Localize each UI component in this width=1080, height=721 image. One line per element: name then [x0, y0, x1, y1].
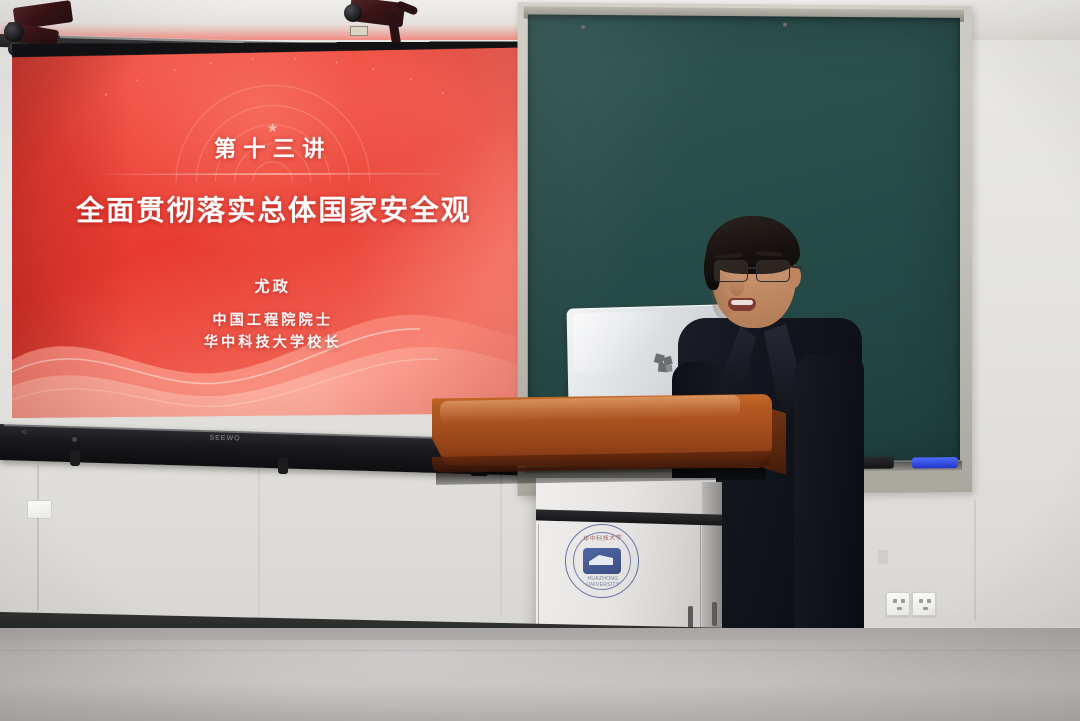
lectern-latch[interactable] [712, 602, 717, 626]
led-video-wall[interactable]: ★ [12, 41, 537, 439]
slide-affiliation-line: 华中科技大学校长 [204, 332, 342, 354]
camera-lens-icon [4, 22, 24, 42]
eyeglass-temple [788, 265, 802, 269]
presenter-mouth-speaking [728, 298, 756, 311]
slide-content: 第十三讲 全面贯彻落实总体国家安全观 尤政 中国工程院院士 华中科技大学校长 [12, 47, 537, 420]
wall-outlet-2[interactable] [912, 592, 936, 616]
conduit-wire [37, 518, 39, 610]
eyeglass-lens-right [756, 260, 790, 282]
blue-marker[interactable] [912, 457, 958, 468]
laptop-lid-sheen [572, 311, 664, 373]
frame-screw [783, 23, 787, 27]
slide-affiliation: 中国工程院院士 华中科技大学校长 [204, 310, 342, 354]
slide-divider [95, 173, 452, 175]
screen-wall-mount [70, 450, 80, 466]
camera-lens-icon [344, 4, 362, 22]
frame-screw [581, 25, 585, 29]
floor-sheen [0, 640, 1080, 721]
wall-panel-seam [258, 455, 260, 615]
wall-panel-seam [974, 500, 976, 620]
lectern-top-gloss [440, 395, 740, 423]
slide-affiliation-line: 中国工程院院士 [204, 310, 342, 332]
conduit-wire [37, 465, 39, 503]
wall-mark [878, 550, 888, 564]
presenter-arm-right [794, 354, 864, 654]
emblem-arc-bottom-text: HUAZHONG UNIVERSITY [574, 576, 632, 588]
presenter-nose [730, 278, 744, 296]
slide-title: 全面贯彻落实总体国家安全观 [76, 188, 471, 229]
rail-label-tag [350, 26, 368, 36]
wall-switch[interactable] [27, 500, 52, 519]
slide-surface: ★ [12, 47, 537, 420]
lecture-hall-photo: ★ [0, 0, 1080, 721]
emblem-monogram [583, 548, 621, 574]
hust-university-emblem: 华中科技大学 HUAZHONG UNIVERSITY [565, 524, 639, 598]
slide-speaker-name: 尤政 [254, 275, 291, 296]
eyeglass-bridge [748, 267, 756, 269]
floor-seam [0, 650, 1080, 651]
bezel-screw [72, 437, 77, 442]
eyeglasses-icon [712, 260, 798, 284]
screen-wall-mount [278, 458, 288, 474]
screen-brand-mark: SEEWO [206, 434, 244, 443]
wall-outlet-1[interactable] [886, 592, 910, 616]
screen-bezel-label: IC [22, 430, 52, 437]
slide-kicker: 第十三讲 [214, 131, 332, 164]
